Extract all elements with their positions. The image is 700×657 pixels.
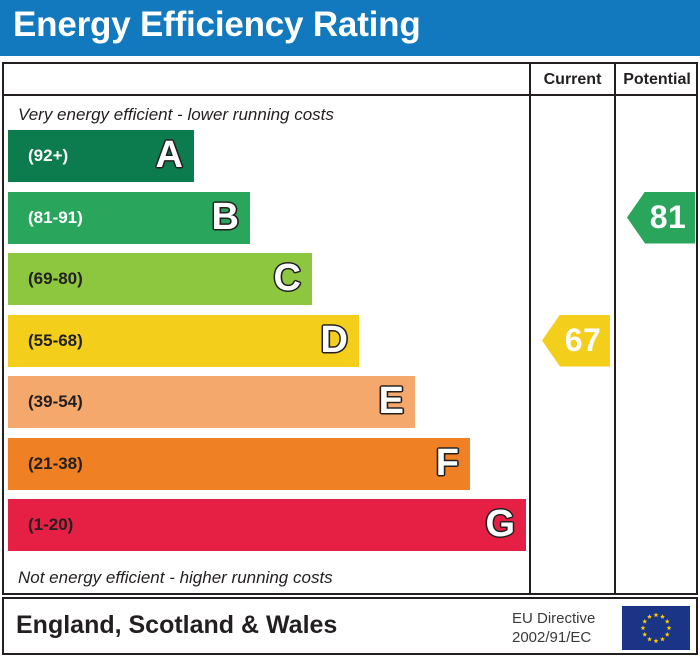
current-rating-arrow: 67 <box>542 315 610 367</box>
column-header-current: Current <box>531 64 614 96</box>
energy-efficiency-rating-chart: Energy Efficiency Rating Current Potenti… <box>0 0 700 657</box>
column-header-potential: Potential <box>616 64 698 96</box>
directive-line-1: EU Directive <box>512 609 616 628</box>
band-range-b: (81-91) <box>28 192 83 244</box>
band-e: (39-54)E <box>8 376 415 428</box>
band-list: (92+)A(81-91)B(69-80)C(55-68)D(39-54)E(2… <box>4 130 529 560</box>
title-bar: Energy Efficiency Rating <box>0 0 700 56</box>
band-g: (1-20)G <box>8 499 526 551</box>
band-range-d: (55-68) <box>28 315 83 367</box>
rating-grid: Current Potential Very energy efficient … <box>2 62 698 595</box>
band-range-g: (1-20) <box>28 499 73 551</box>
directive-line-2: 2002/91/EC <box>512 628 616 647</box>
band-range-c: (69-80) <box>28 253 83 305</box>
band-letter-d: D <box>321 315 348 367</box>
band-range-e: (39-54) <box>28 376 83 428</box>
footer-bar: England, Scotland & Wales EU Directive 2… <box>2 597 698 655</box>
column-divider-potential <box>614 64 616 593</box>
band-letter-c: C <box>274 253 301 305</box>
caption-top: Very energy efficient - lower running co… <box>18 105 334 125</box>
band-b: (81-91)B <box>8 192 250 244</box>
potential-rating-value: 81 <box>636 199 687 236</box>
footer-directive-label: EU Directive 2002/91/EC <box>512 609 616 647</box>
caption-bottom: Not energy efficient - higher running co… <box>18 568 333 588</box>
page-title: Energy Efficiency Rating <box>13 5 421 45</box>
band-f: (21-38)F <box>8 438 470 490</box>
footer-region-label: England, Scotland & Wales <box>16 611 337 640</box>
band-letter-e: E <box>379 376 404 428</box>
band-letter-g: G <box>485 499 515 551</box>
current-rating-value: 67 <box>551 322 602 359</box>
column-divider-current <box>529 64 531 593</box>
band-letter-a: A <box>156 130 183 182</box>
band-letter-f: F <box>436 438 459 490</box>
potential-rating-arrow: 81 <box>627 192 695 244</box>
band-c: (69-80)C <box>8 253 312 305</box>
band-letter-b: B <box>212 192 239 244</box>
band-range-a: (92+) <box>28 130 68 182</box>
eu-flag-icon <box>622 606 690 650</box>
band-d: (55-68)D <box>8 315 359 367</box>
band-a: (92+)A <box>8 130 194 182</box>
band-range-f: (21-38) <box>28 438 83 490</box>
